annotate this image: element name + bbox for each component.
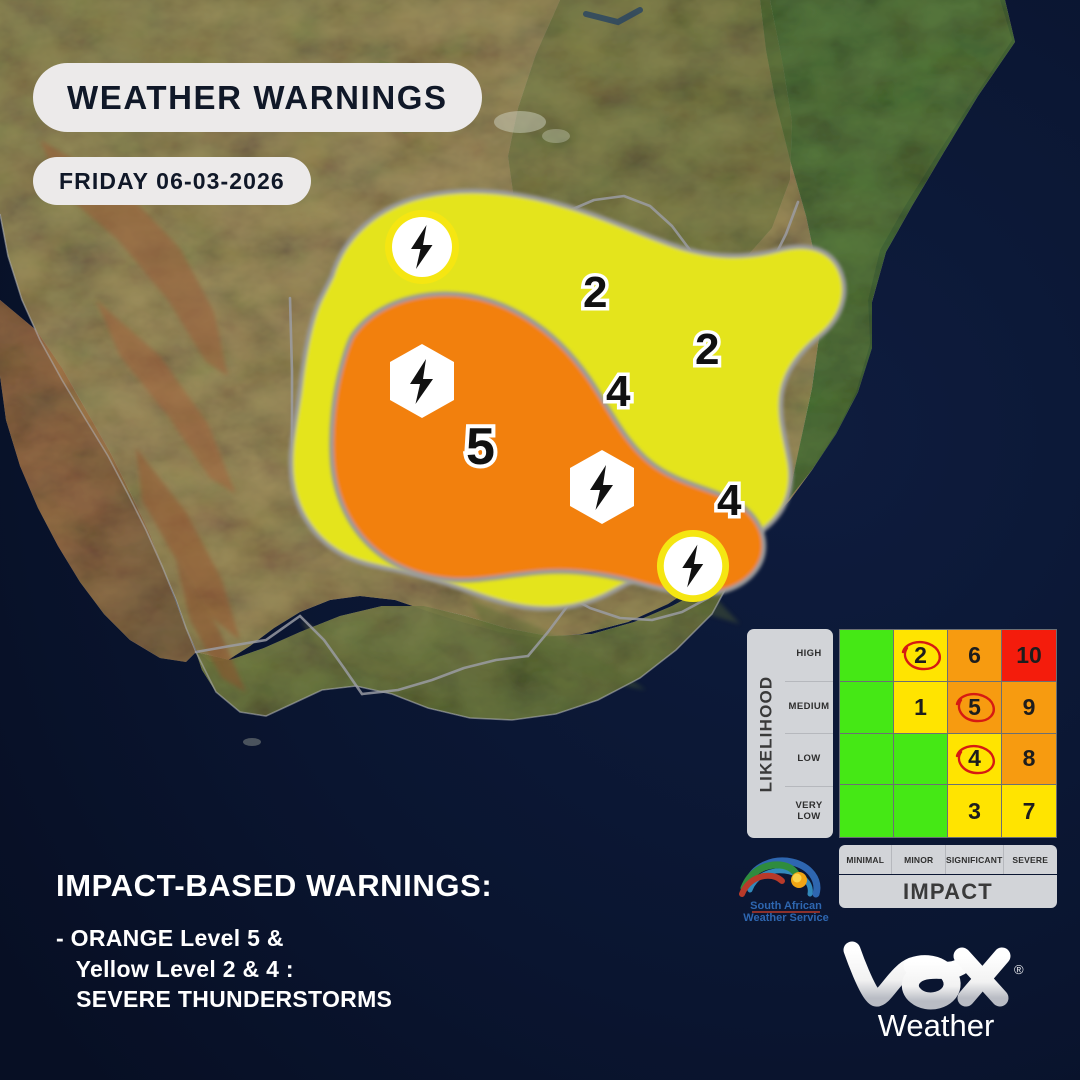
risk-matrix-cell: 9 bbox=[1002, 682, 1056, 734]
likelihood-axis-title: LIKELIHOOD bbox=[747, 629, 785, 838]
impact-warnings-line: - ORANGE Level 5 & bbox=[56, 923, 492, 954]
thunderstorm-icon-northwest bbox=[383, 208, 461, 286]
warning-level-label: 5 bbox=[466, 421, 495, 473]
risk-matrix-cell: 4 bbox=[948, 734, 1002, 786]
risk-matrix-cell bbox=[840, 785, 894, 837]
impact-column-minor: MINOR bbox=[892, 845, 946, 874]
impact-column-severe: SEVERE bbox=[1004, 845, 1058, 874]
risk-matrix-cell: 10 bbox=[1002, 630, 1056, 682]
warning-zones bbox=[291, 191, 844, 609]
impact-column-significant: SIGNIFICANT bbox=[946, 845, 1004, 874]
page-title: WEATHER WARNINGS bbox=[33, 63, 482, 132]
risk-matrix-cell: 8 bbox=[1002, 734, 1056, 786]
impact-column-minimal: MINIMAL bbox=[839, 845, 892, 874]
risk-matrix-cell: 6 bbox=[948, 630, 1002, 682]
vox-weather-logo: ® Weather bbox=[836, 936, 1036, 1048]
risk-matrix-cell bbox=[840, 682, 894, 734]
impact-axis-title: IMPACT bbox=[839, 875, 1057, 908]
likelihood-row-very-low: VERY LOW bbox=[785, 786, 833, 839]
forecast-date-text: FRIDAY 06-03-2026 bbox=[59, 168, 285, 195]
risk-matrix-cell: 1 bbox=[894, 682, 948, 734]
risk-matrix-cell: 3 bbox=[948, 785, 1002, 837]
vox-trademark-symbol: ® bbox=[1014, 962, 1024, 977]
saws-name-line2: Weather Service bbox=[743, 912, 828, 924]
risk-matrix-cell-value: 6 bbox=[968, 642, 981, 669]
thunderstorm-icon-southeast bbox=[562, 447, 642, 527]
likelihood-axis: LIKELIHOOD HIGH MEDIUM LOW VERY LOW bbox=[747, 629, 833, 838]
impact-warnings-line: SEVERE THUNDERSTORMS bbox=[56, 984, 492, 1015]
risk-matrix-cell-value: 10 bbox=[1016, 642, 1042, 669]
page-title-text: WEATHER WARNINGS bbox=[67, 79, 448, 117]
risk-matrix-cell-value: 2 bbox=[914, 642, 927, 669]
warning-level-label: 4 bbox=[606, 370, 630, 414]
likelihood-row-medium: MEDIUM bbox=[785, 681, 833, 734]
risk-matrix-cell-value: 8 bbox=[1023, 745, 1036, 772]
risk-matrix-grid: 26101594837 bbox=[839, 629, 1057, 838]
risk-matrix-cell bbox=[840, 734, 894, 786]
risk-matrix-cell bbox=[894, 734, 948, 786]
saws-name-line1: South African bbox=[750, 900, 822, 912]
risk-matrix-cell-value: 1 bbox=[914, 694, 927, 721]
risk-matrix-cell bbox=[840, 630, 894, 682]
likelihood-row-high: HIGH bbox=[785, 629, 833, 681]
forecast-date: FRIDAY 06-03-2026 bbox=[33, 157, 311, 205]
impact-column-headers: MINIMAL MINOR SIGNIFICANT SEVERE bbox=[839, 845, 1057, 874]
risk-matrix-cell-value: 3 bbox=[968, 798, 981, 825]
warning-level-label: 4 bbox=[717, 479, 741, 523]
impact-warnings-line: Yellow Level 2 & 4 : bbox=[56, 954, 492, 985]
likelihood-axis-title-text: LIKELIHOOD bbox=[756, 675, 776, 792]
saws-logo: South African Weather Service bbox=[736, 852, 836, 924]
vox-sub-wordmark: Weather bbox=[878, 1008, 995, 1043]
vox-wordmark-mark bbox=[852, 950, 1002, 1001]
risk-matrix-cell-value: 7 bbox=[1023, 798, 1036, 825]
thunderstorm-icon-central bbox=[382, 341, 462, 421]
infographic-canvas: WEATHER WARNINGS FRIDAY 06-03-2026 2 2 4… bbox=[0, 0, 1080, 1080]
risk-matrix-cell bbox=[894, 785, 948, 837]
impact-warnings-heading: IMPACT-BASED WARNINGS: bbox=[56, 868, 492, 904]
risk-matrix-cell: 7 bbox=[1002, 785, 1056, 837]
risk-matrix-cell: 2 bbox=[894, 630, 948, 682]
risk-matrix-cell-value: 4 bbox=[968, 745, 981, 772]
impact-warnings-block: IMPACT-BASED WARNINGS: - ORANGE Level 5 … bbox=[56, 868, 492, 1015]
risk-matrix-cell-value: 5 bbox=[968, 694, 981, 721]
likelihood-row-low: LOW bbox=[785, 733, 833, 786]
risk-matrix-cell: 5 bbox=[948, 682, 1002, 734]
warning-level-label: 2 bbox=[695, 328, 719, 372]
thunderstorm-icon-coastal bbox=[655, 528, 731, 604]
warning-level-label: 2 bbox=[583, 271, 607, 315]
risk-matrix-cell-value: 9 bbox=[1023, 694, 1036, 721]
